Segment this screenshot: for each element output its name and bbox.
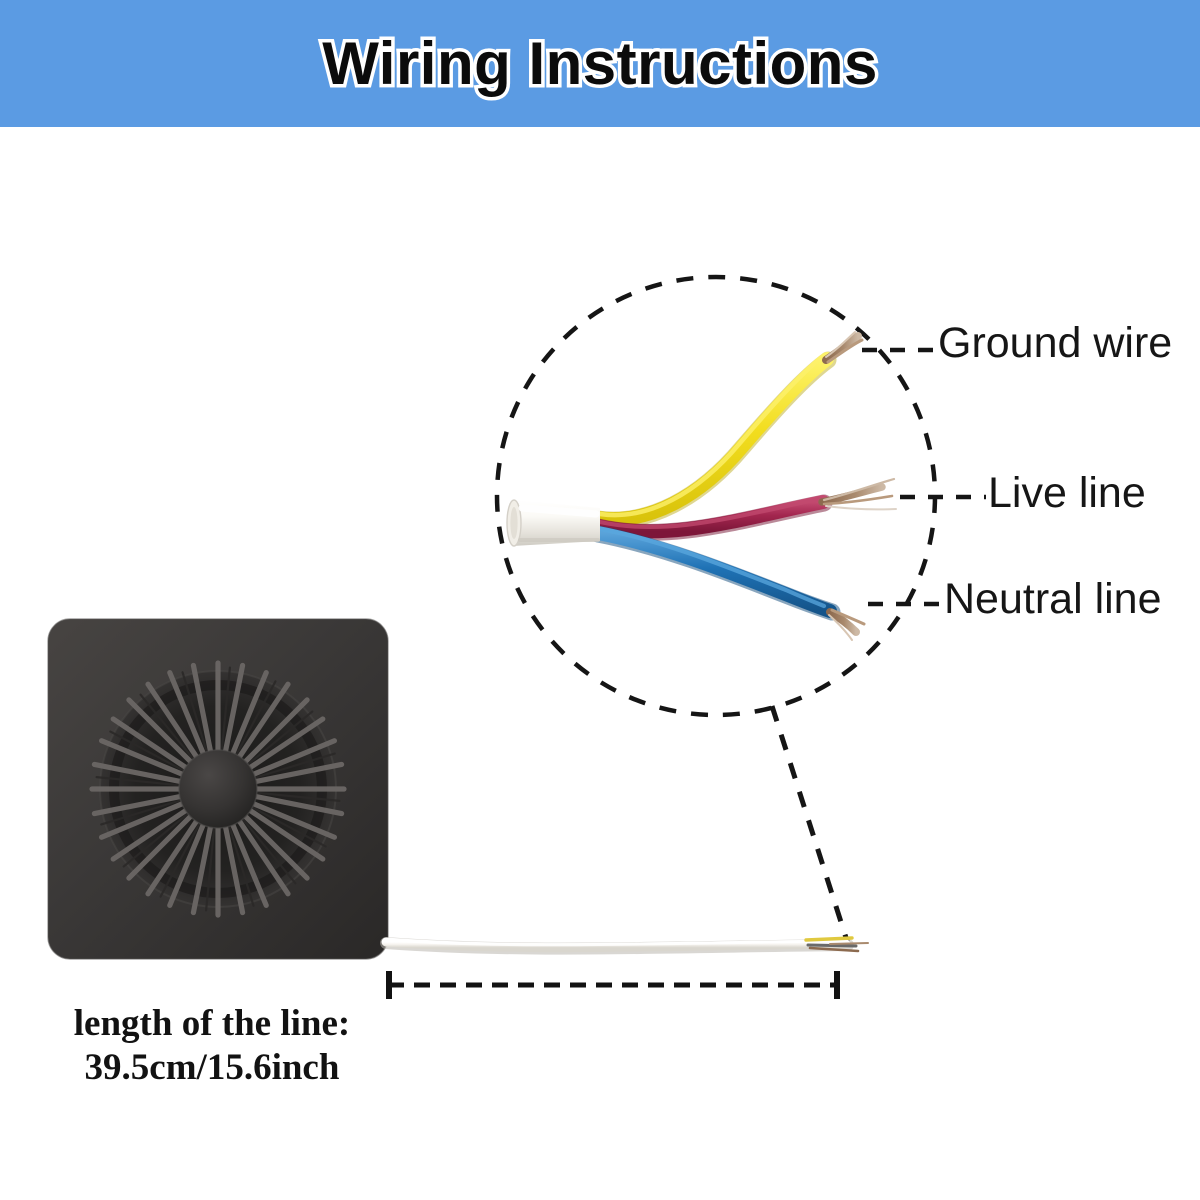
- cable-length-dimension: [388, 971, 838, 999]
- ground-wire: [598, 332, 862, 520]
- label-ground-wire: Ground wire: [938, 322, 1172, 365]
- exhaust-fan-front: [48, 619, 388, 959]
- callout-circle: [497, 277, 935, 715]
- wire-bundle-detail: [507, 332, 896, 640]
- label-live-line: Live line: [988, 472, 1146, 515]
- cable-length-caption-line2: 39.5cm/15.6inch: [0, 1046, 812, 1090]
- neutral-wire: [598, 529, 864, 640]
- cable-length-caption: length of the line: 39.5cm/15.6inch: [0, 1002, 812, 1089]
- cable-length-caption-line1: length of the line:: [0, 1002, 812, 1046]
- live-wire: [598, 479, 896, 532]
- callout-leader-line: [772, 706, 848, 944]
- illustration-canvas: Wiring Instructions: [0, 0, 1200, 1200]
- label-neutral-line: Neutral line: [944, 578, 1162, 621]
- cable-sheath-end: [507, 500, 600, 546]
- fan-power-cable: [386, 938, 868, 951]
